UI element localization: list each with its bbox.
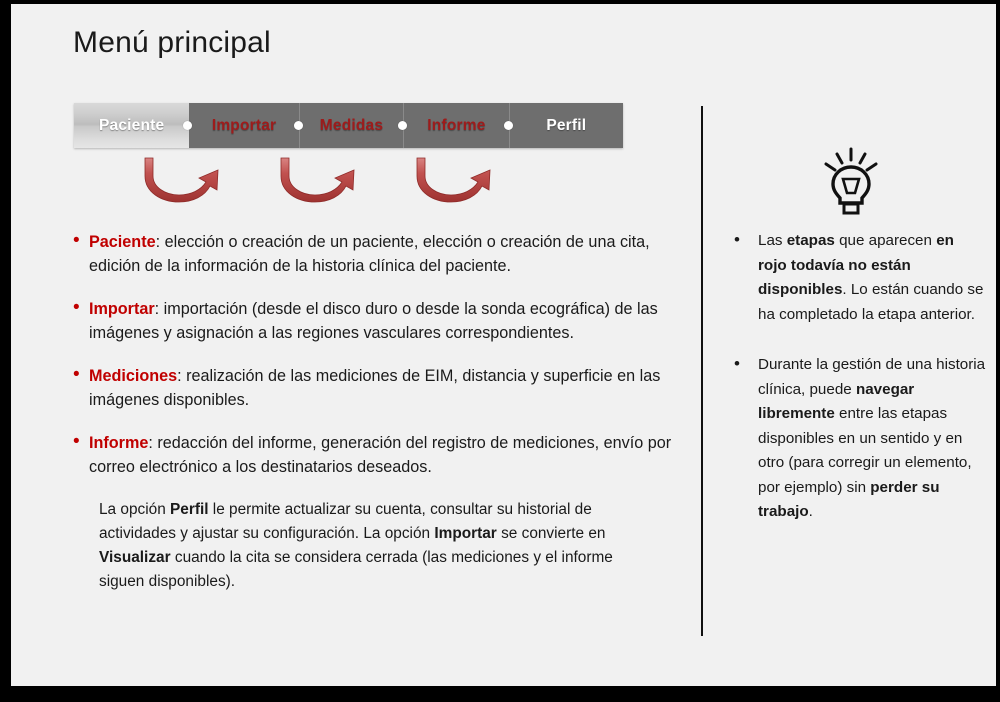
nav-separator-dot <box>398 121 407 130</box>
text-run: que aparecen <box>835 232 936 249</box>
nav-tab-importar[interactable]: Importar <box>189 103 299 148</box>
vertical-divider <box>701 106 703 636</box>
curved-up-arrow-2 <box>281 158 354 202</box>
nav-separator-dot <box>504 121 513 130</box>
list-item: • Durante la gestión de una historia clí… <box>734 353 986 525</box>
list-item-body: : redacción del informe, generación del … <box>89 434 671 476</box>
tip-text-1: Las etapas que aparecen en rojo todavía … <box>758 229 986 327</box>
bullet-marker: • <box>67 431 89 452</box>
text-run: . <box>809 503 813 520</box>
nav-tab-label: Medidas <box>320 117 383 135</box>
keyword-mediciones: Mediciones <box>89 367 177 385</box>
list-item-body: : elección o creación de un paciente, el… <box>89 233 650 275</box>
note-part-1: La opción <box>99 501 170 518</box>
note-part-4: cuando la cita se considera cerrada (las… <box>99 549 613 590</box>
note-bold-perfil: Perfil <box>170 501 209 518</box>
left-content-column: • Paciente: elección o creación de un pa… <box>67 230 673 594</box>
list-item-text: Mediciones: realización de las medicione… <box>89 364 673 412</box>
note-bold-visualizar: Visualizar <box>99 549 171 566</box>
list-item-text: Importar: importación (desde el disco du… <box>89 297 673 345</box>
tip-text-2: Durante la gestión de una historia clíni… <box>758 353 986 525</box>
nav-tab-informe[interactable]: Informe <box>404 103 509 148</box>
nav-tab-medidas[interactable]: Medidas <box>300 103 404 148</box>
nav-tab-label: Informe <box>427 117 485 135</box>
keyword-importar: Importar <box>89 300 155 318</box>
nav-tab-label: Importar <box>212 117 276 135</box>
note-paragraph: La opción Perfil le permite actualizar s… <box>99 498 659 594</box>
list-item: • Importar: importación (desde el disco … <box>67 297 673 345</box>
text-run-bold: etapas <box>787 232 835 249</box>
slide-canvas: Menú principal PacienteImportarMedidasIn… <box>11 4 996 686</box>
list-item: • Mediciones: realización de las medicio… <box>67 364 673 412</box>
keyword-paciente: Paciente <box>89 233 156 251</box>
list-item: • Paciente: elección o creación de un pa… <box>67 230 673 278</box>
bullet-marker: • <box>67 230 89 251</box>
curved-up-arrow-1 <box>145 158 218 202</box>
nav-tab-perfil[interactable]: Perfil <box>510 103 623 148</box>
curved-arrows-group <box>139 152 539 210</box>
bullet-marker: • <box>734 353 758 375</box>
slide-frame: Menú principal PacienteImportarMedidasIn… <box>0 0 1000 702</box>
page-title: Menú principal <box>73 26 271 60</box>
curved-up-arrow-3 <box>417 158 490 202</box>
nav-tab-label: Paciente <box>99 117 164 135</box>
keyword-informe: Informe <box>89 434 148 452</box>
bullet-marker: • <box>734 229 758 251</box>
text-run: Las <box>758 232 787 249</box>
list-item-text: Informe: redacción del informe, generaci… <box>89 431 673 479</box>
nav-tab-paciente[interactable]: Paciente <box>74 103 189 148</box>
bullet-marker: • <box>67 297 89 318</box>
note-part-3: se convierte en <box>497 525 606 542</box>
list-item: • Informe: redacción del informe, genera… <box>67 431 673 479</box>
nav-separator-dot <box>294 121 303 130</box>
note-bold-importar: Importar <box>434 525 496 542</box>
list-item-text: Paciente: elección o creación de un paci… <box>89 230 673 278</box>
lightbulb-icon <box>819 147 883 221</box>
menu-principal-navbar: PacienteImportarMedidasInformePerfil <box>74 103 623 148</box>
nav-separator-dot <box>183 121 192 130</box>
list-item-body: : importación (desde el disco duro o des… <box>89 300 658 342</box>
right-content-column: • Las etapas que aparecen en rojo todaví… <box>734 229 986 551</box>
nav-tab-label: Perfil <box>546 117 586 135</box>
list-item: • Las etapas que aparecen en rojo todaví… <box>734 229 986 327</box>
bullet-marker: • <box>67 364 89 385</box>
